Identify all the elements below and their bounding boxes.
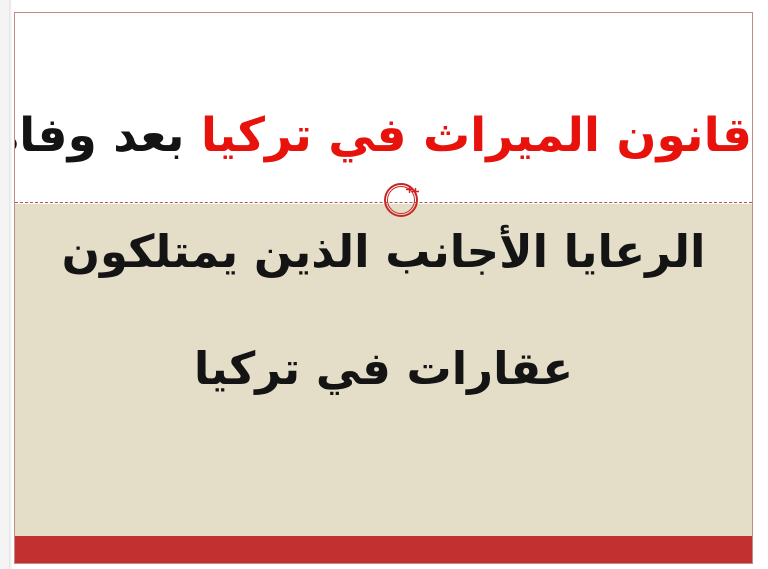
- left-gutter-shadow: [9, 0, 12, 569]
- red-footer-bar: [15, 536, 752, 563]
- beige-body-band: [15, 204, 752, 536]
- screenshot-canvas: قانون الميراث في تركيا بعد وفاة الرعايا …: [0, 0, 768, 569]
- ring-cursor-icon[interactable]: [384, 183, 418, 217]
- document-panel[interactable]: قانون الميراث في تركيا بعد وفاة الرعايا …: [14, 12, 753, 564]
- upper-white-band: [15, 13, 752, 202]
